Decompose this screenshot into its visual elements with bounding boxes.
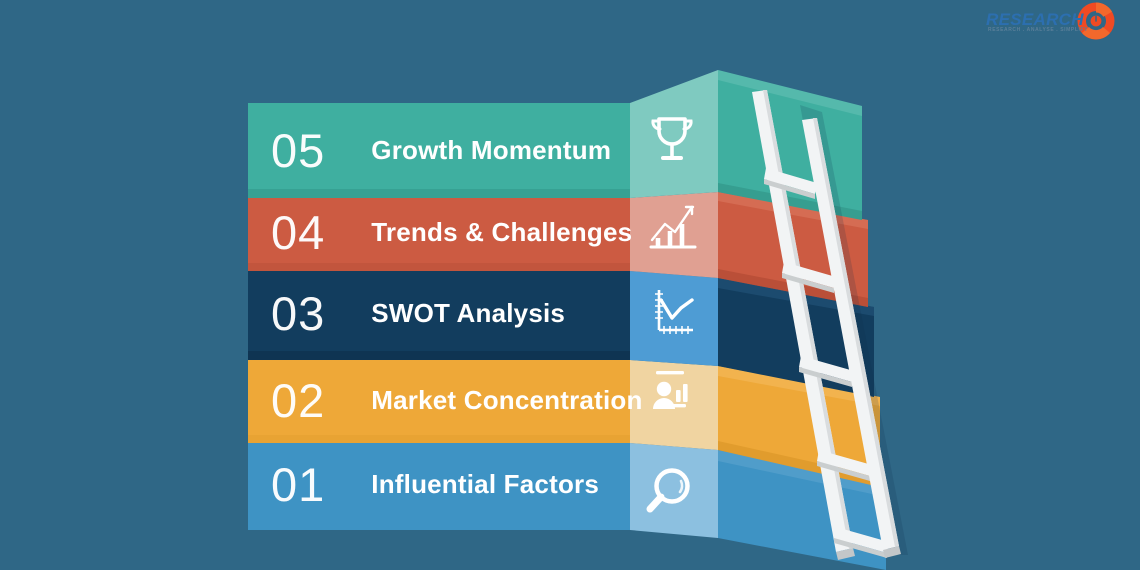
- stack-graphic: [0, 0, 1140, 570]
- brand-tagline: RESEARCH . ANALYSE . SIMPLIFY: [988, 27, 1088, 33]
- step-03-front-base-shadow: [248, 351, 630, 360]
- step-02-front-base-shadow: [248, 435, 630, 443]
- step-03-icon-panel: [630, 271, 718, 366]
- step-04-front-base-shadow: [248, 263, 630, 271]
- step-01-front-face: [248, 443, 630, 530]
- step-01-icon-panel: [630, 443, 718, 538]
- step-05-front-face: [248, 103, 630, 198]
- artboard: 05 Growth Momentum 04 Trends & Challenge…: [0, 0, 1140, 570]
- brand-logo[interactable]: RESEARCH RESEARCH . ANALYSE . SIMPLIFY: [986, 2, 1134, 44]
- step-04-front-face: [248, 198, 630, 271]
- step-02-front-face: [248, 360, 630, 443]
- step-05-icon-panel: [630, 70, 718, 198]
- step-03-front-face: [248, 271, 630, 360]
- step-04-icon-panel: [630, 192, 718, 278]
- infographic-canvas: 05 Growth Momentum 04 Trends & Challenge…: [0, 0, 1140, 570]
- step-05-front-base-shadow: [248, 189, 630, 198]
